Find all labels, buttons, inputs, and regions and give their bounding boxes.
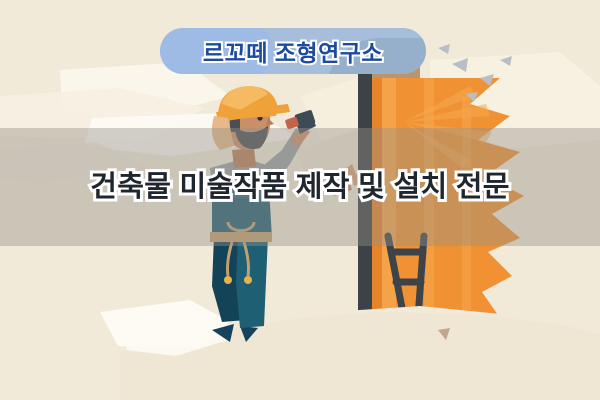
cord-tip-right [244, 276, 252, 284]
brand-title: 르꼬떼 조형연구소 [203, 34, 383, 68]
brand-pill-banner: 르꼬떼 조형연구소 [160, 28, 426, 74]
headline-text: 건축물 미술작품 제작 및 설치 전문 [0, 163, 600, 205]
worker-belt [210, 232, 272, 242]
promo-banner: 르꼬떼 조형연구소 건축물 미술작품 제작 및 설치 전문 [0, 0, 600, 400]
cord-tip-left [224, 276, 232, 284]
